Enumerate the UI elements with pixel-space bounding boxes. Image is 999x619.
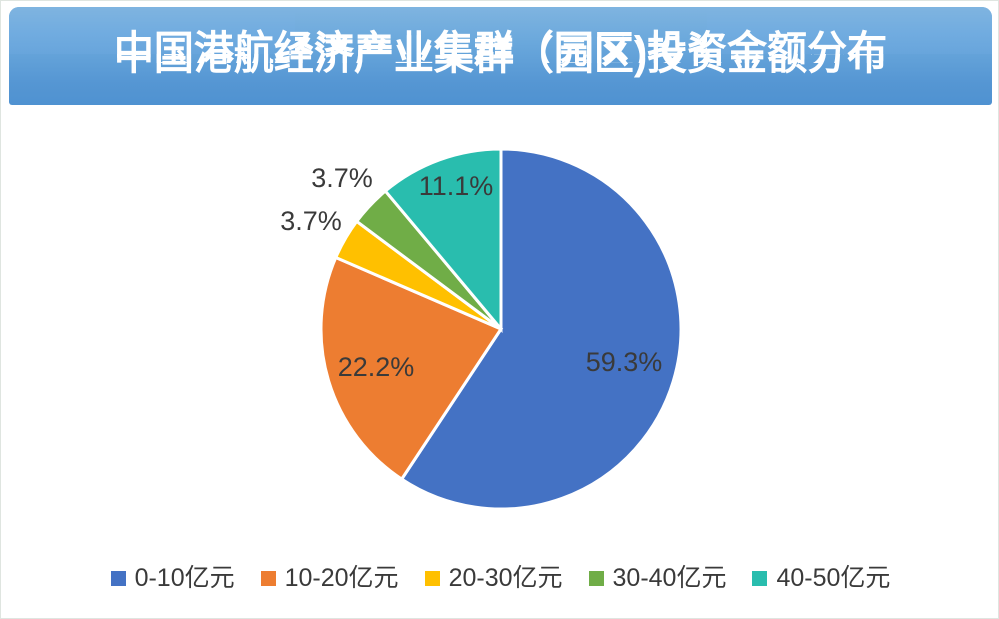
pie-chart-plot-area: 59.3%22.2%3.7%3.7%11.1% bbox=[1, 105, 999, 545]
legend-color-swatch bbox=[752, 571, 767, 586]
legend-color-swatch bbox=[589, 571, 604, 586]
legend-color-swatch bbox=[261, 571, 276, 586]
legend-item[interactable]: 20-30亿元 bbox=[425, 566, 563, 591]
legend-color-swatch bbox=[111, 571, 126, 586]
pie-slice-label: 59.3% bbox=[586, 347, 663, 377]
chart-title-wrap: 中国港航经济产业集群（园区)投资金额分布 中国港航经济产业集群（园区)投资金额分… bbox=[9, 7, 992, 105]
pie-slice-label: 11.1% bbox=[419, 171, 494, 201]
legend-item[interactable]: 0-10亿元 bbox=[111, 566, 235, 591]
pie-slices-group bbox=[321, 149, 681, 509]
pie-chart-svg: 59.3%22.2%3.7%3.7%11.1% bbox=[1, 105, 999, 545]
chart-title-banner: 中国港航经济产业集群（园区)投资金额分布 中国港航经济产业集群（园区)投资金额分… bbox=[9, 7, 992, 105]
pie-slice-label: 3.7% bbox=[311, 163, 373, 193]
legend-item[interactable]: 30-40亿元 bbox=[589, 566, 727, 591]
legend-item-label: 30-40亿元 bbox=[613, 566, 727, 591]
chart-legend: 0-10亿元10-20亿元20-30亿元30-40亿元40-50亿元 bbox=[1, 557, 999, 599]
pie-slice-label: 3.7% bbox=[280, 206, 342, 236]
legend-item-label: 20-30亿元 bbox=[449, 566, 563, 591]
chart-card: 中国港航经济产业集群（园区)投资金额分布 中国港航经济产业集群（园区)投资金额分… bbox=[0, 0, 999, 619]
legend-item-label: 0-10亿元 bbox=[135, 566, 235, 591]
pie-slice-label: 22.2% bbox=[338, 352, 415, 382]
legend-item[interactable]: 10-20亿元 bbox=[261, 566, 399, 591]
legend-color-swatch bbox=[425, 571, 440, 586]
legend-item[interactable]: 40-50亿元 bbox=[752, 566, 890, 591]
title-clip-mask-right bbox=[707, 7, 992, 54]
title-clip-mask-left bbox=[9, 7, 295, 54]
legend-item-label: 10-20亿元 bbox=[285, 566, 399, 591]
legend-item-label: 40-50亿元 bbox=[776, 566, 890, 591]
